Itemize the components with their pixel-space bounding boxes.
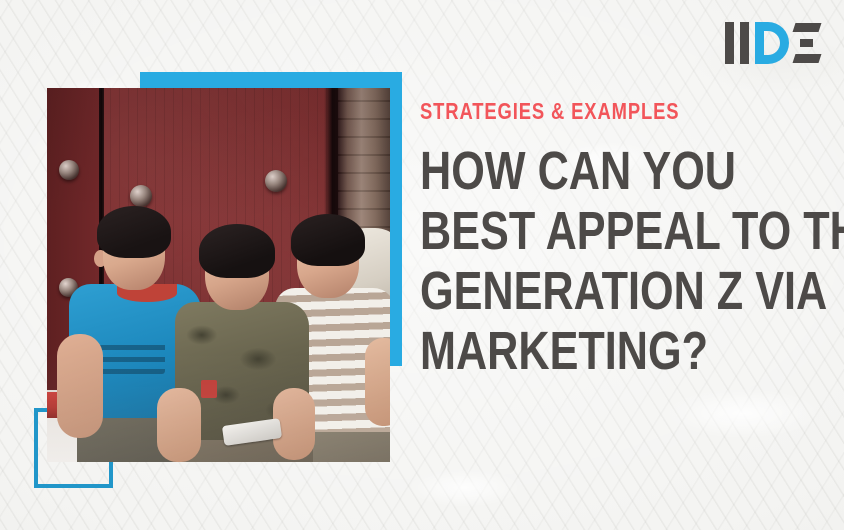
door-stud	[59, 160, 79, 180]
boy-left-arm	[57, 334, 103, 438]
headline-line-2: BEST APPEAL TO THE	[420, 201, 740, 261]
boy-left-hair	[97, 206, 171, 258]
door-stud	[265, 170, 287, 192]
shirt-badge	[201, 380, 217, 398]
boy-right-hair	[291, 214, 365, 266]
text-column: STRATEGIES & EXAMPLES HOW CAN YOU BEST A…	[420, 100, 820, 381]
blog-banner: STRATEGIES & EXAMPLES HOW CAN YOU BEST A…	[0, 0, 844, 530]
logo-e-top-bar	[793, 23, 822, 32]
page-title: HOW CAN YOU BEST APPEAL TO THE GENERATIO…	[420, 141, 820, 381]
hero-photo-scene	[47, 88, 390, 462]
boy-middle-arm	[157, 388, 201, 462]
logo-e-bottom-bar	[793, 54, 822, 63]
door-stud	[130, 185, 152, 207]
boy-middle-hair	[199, 224, 275, 278]
logo-letter-i-second	[740, 22, 749, 64]
logo-letter-e	[794, 22, 820, 64]
headline-line-3: GENERATION Z VIA	[420, 261, 740, 321]
headline-line-4: MARKETING?	[420, 321, 740, 381]
headline-line-1: HOW CAN YOU	[420, 141, 740, 201]
eyebrow-label: STRATEGIES & EXAMPLES	[420, 100, 740, 123]
hero-photo	[47, 88, 390, 462]
iide-logo[interactable]	[725, 22, 820, 66]
logo-e-middle-bar	[800, 39, 813, 47]
logo-letter-i-first	[725, 22, 734, 64]
logo-letter-d	[755, 22, 789, 64]
boy-right-arm	[365, 338, 390, 426]
